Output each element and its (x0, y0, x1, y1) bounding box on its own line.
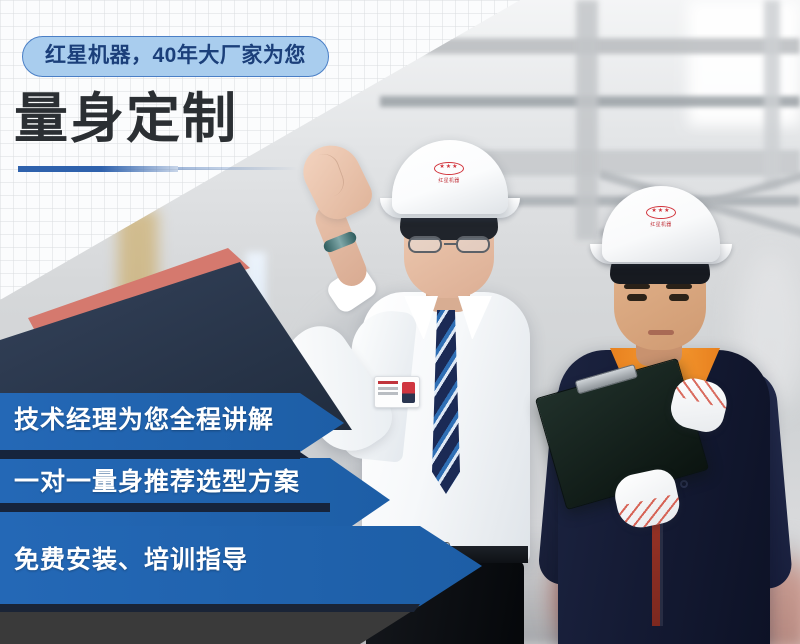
banner-stage: 红星机器 (0, 0, 800, 644)
helmet-logo-mark-icon (646, 206, 676, 219)
belt-buckle (406, 542, 450, 567)
helmet-logo-technician: 红星机器 (639, 204, 683, 230)
headline-underline-fade (178, 167, 298, 170)
feature-bar-3-label: 免费安装、培训指导 (14, 548, 248, 573)
helmet-logo-engineer: 红星机器 (428, 160, 470, 186)
striped-necktie (432, 310, 460, 494)
feature-bar-2-label: 一对一量身推荐选型方案 (14, 470, 300, 495)
subject-technician: 红星机器 (540, 180, 790, 644)
engineer-trousers (366, 560, 524, 644)
helmet-logo-mark-icon (434, 162, 464, 175)
helmet-logo-text: 红星机器 (650, 221, 671, 228)
feature-bar-1-label: 技术经理为您全程讲解 (14, 408, 274, 433)
technician-eye-right (669, 294, 689, 301)
technician-eye-left (627, 294, 647, 301)
id-badge (374, 376, 420, 408)
page-title: 量身定制 (14, 92, 238, 146)
tagline-pill: 红星机器，40年大厂家为您 (22, 36, 329, 77)
subject-engineer: 红星机器 (300, 140, 570, 644)
helmet-logo-text: 红星机器 (438, 177, 459, 184)
uniform-pocket-button (680, 480, 688, 488)
headline-underline (18, 166, 178, 172)
technician-brow-right (666, 284, 692, 289)
technician-mouth (648, 330, 674, 335)
raised-hand (295, 135, 378, 226)
eyeglasses-icon (406, 236, 492, 253)
technician-brow-left (624, 284, 650, 289)
